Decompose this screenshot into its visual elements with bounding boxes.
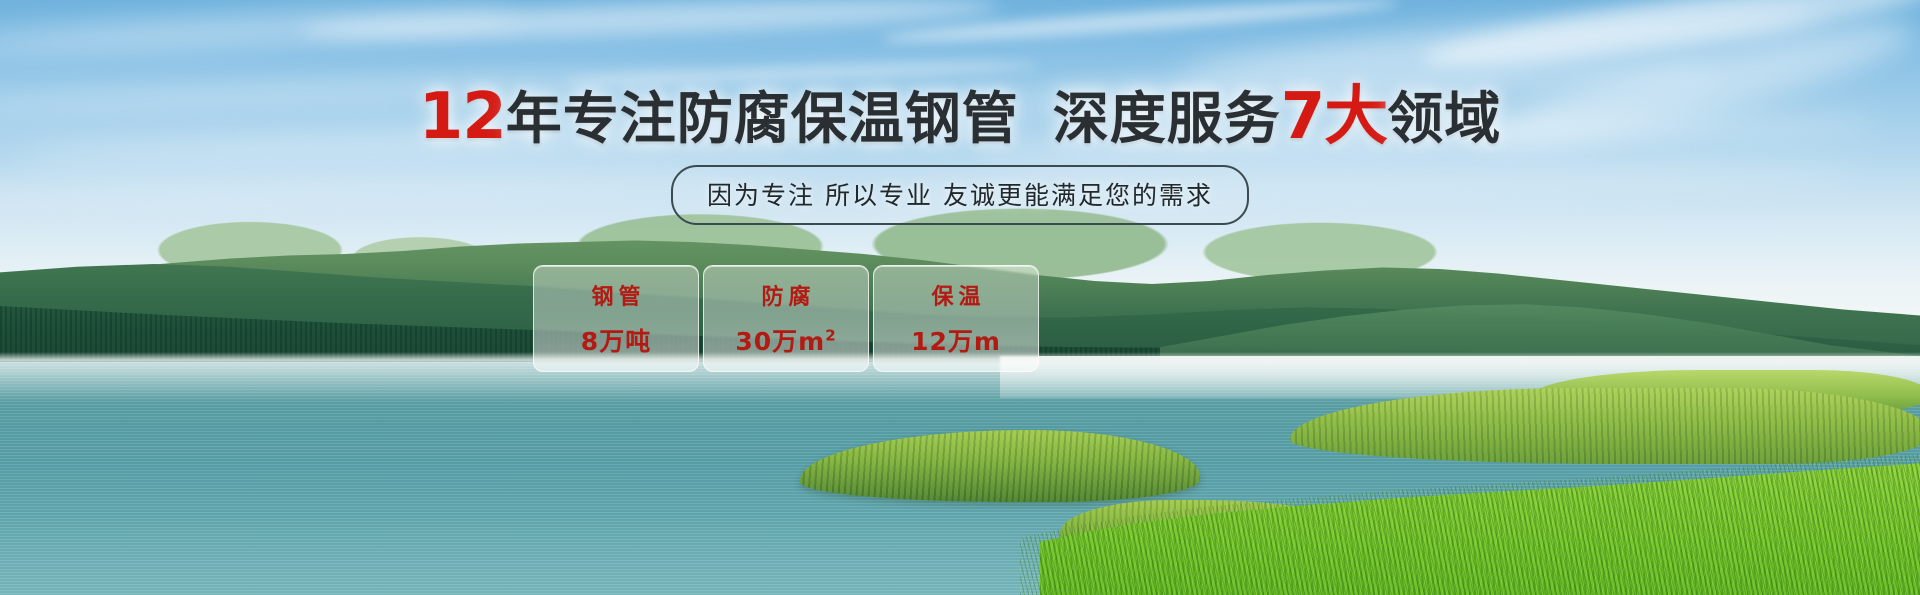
stat-card-label: 保温: [926, 279, 985, 311]
headline-part-one: 年专注防腐保温钢管: [506, 87, 1019, 152]
headline: 12年专注防腐保温钢管深度服务7大领域: [0, 84, 1920, 151]
stat-card-list: 钢管 8万吨 防腐 30万m2 保温 12万m: [533, 265, 1039, 372]
headline-part-two: 深度服务: [1053, 87, 1281, 152]
promo-banner: 12年专注防腐保温钢管深度服务7大领域 因为专注 所以专业 友诚更能满足您的需求…: [0, 0, 1920, 595]
stat-card-value-text: 30万m: [735, 327, 825, 356]
stat-card-insulation[interactable]: 保温 12万m: [873, 265, 1039, 372]
headline-years-number: 12: [419, 80, 506, 154]
stat-card-steel-pipe[interactable]: 钢管 8万吨: [533, 265, 699, 372]
stat-card-value-exponent: 2: [825, 327, 836, 345]
stat-card-value-text: 8万吨: [581, 327, 651, 356]
stat-card-label: 钢管: [586, 279, 645, 311]
banner-content: 12年专注防腐保温钢管深度服务7大领域 因为专注 所以专业 友诚更能满足您的需求…: [0, 0, 1920, 595]
stat-card-value: 12万m: [911, 322, 1001, 358]
headline-highlight: 7大: [1281, 80, 1388, 154]
stat-card-label: 防腐: [756, 279, 815, 311]
stat-card-value-text: 12万m: [911, 327, 1001, 356]
subtitle-container: 因为专注 所以专业 友诚更能满足您的需求: [0, 165, 1920, 225]
stat-card-value: 8万吨: [581, 322, 651, 358]
stat-card-value: 30万m2: [735, 322, 836, 358]
subtitle-pill: 因为专注 所以专业 友诚更能满足您的需求: [671, 165, 1249, 225]
headline-part-three: 领域: [1387, 87, 1501, 152]
stat-card-anticorrosion[interactable]: 防腐 30万m2: [703, 265, 869, 372]
